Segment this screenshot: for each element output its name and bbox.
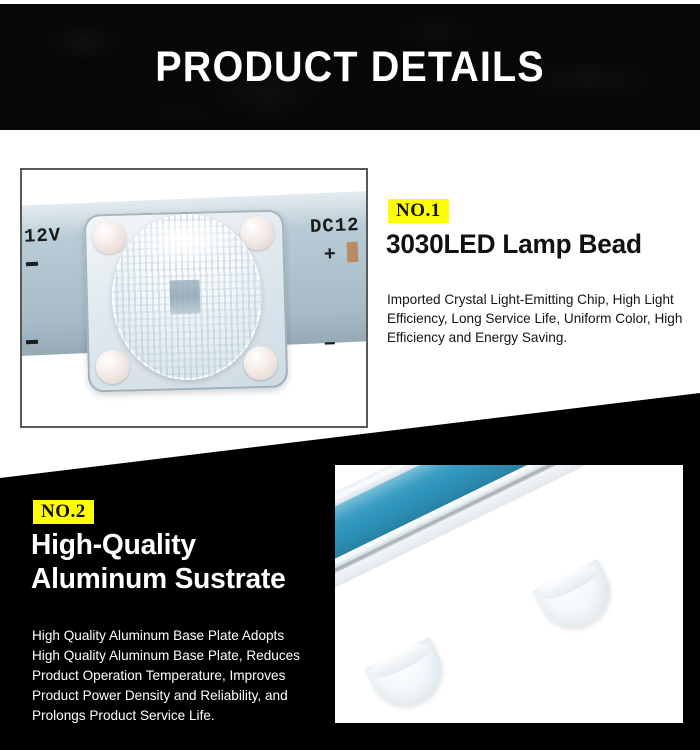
section-heading-no1: 3030LED Lamp Bead [386,228,687,260]
strip-lens-rim-1 [368,639,433,683]
pcb-polarity-plus: + [324,243,337,266]
strip-lens-dome-1 [365,637,453,717]
section-heading-no2: High-QualityAluminum Sustrate [31,528,322,596]
section-heading-no2-line2: Aluminum Sustrate [31,563,286,595]
pcb-mark-a [26,262,38,266]
photo-canvas-strip [335,465,683,723]
photo-canvas-led-bead: 12V DC12 + − [22,170,366,426]
page-title: PRODUCT DETAILS [28,4,672,130]
product-details-page: PRODUCT DETAILS 12V DC12 + − [0,0,700,750]
section-badge-no2: NO.2 [33,500,94,524]
section-body-no2: High Quality Aluminum Base Plate Adopts … [32,625,313,725]
header-banner: PRODUCT DETAILS [0,4,700,130]
section-badge-no1: NO.1 [388,199,449,223]
led-lamp-bead-photo: 12V DC12 + − [20,168,368,428]
pcb-voltage-label-left: 12V [24,224,62,248]
section-heading-no2-line1: High-Quality [31,529,196,561]
led-strip-scene [335,465,683,723]
aluminum-substrate-strip-photo [335,465,683,723]
pcb-mark-b [26,340,38,344]
led-lens-housing [84,209,289,392]
pcb-solder-pad [347,242,359,262]
aluminum-strip-body [335,465,683,613]
pcb-polarity-minus: − [324,333,337,356]
strip-lens-dome-2 [533,559,621,639]
led-lens-dome [110,212,264,382]
section-body-no1: Imported Crystal Light-Emitting Chip, Hi… [387,290,683,347]
led-emitter-chip [169,280,200,315]
pcb-voltage-label-right: DC12 [310,214,360,238]
strip-lens-rim-2 [536,561,601,605]
